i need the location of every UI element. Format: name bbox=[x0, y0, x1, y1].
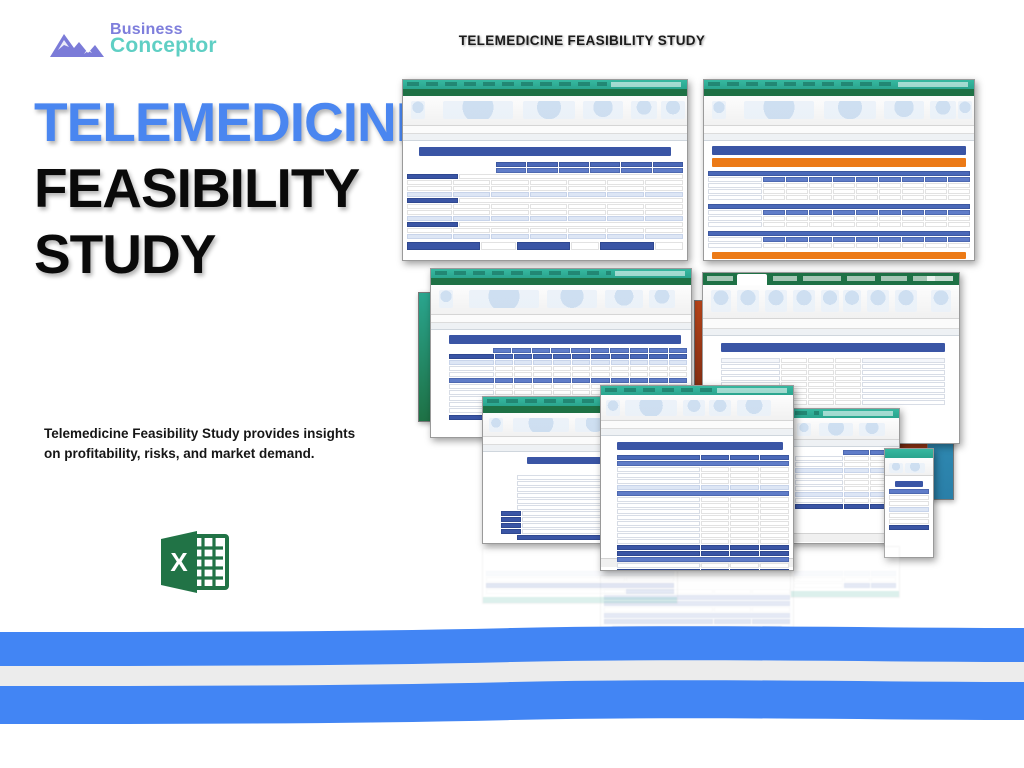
decorative-waves bbox=[0, 608, 1024, 768]
worksheet-grid[interactable] bbox=[403, 141, 687, 261]
excel-window-side-small[interactable] bbox=[884, 448, 934, 558]
worksheet-grid[interactable] bbox=[885, 476, 933, 546]
window-titlebar[interactable] bbox=[403, 80, 687, 89]
sheet-banner bbox=[721, 343, 945, 352]
window-titlebar[interactable] bbox=[704, 80, 974, 89]
column-headers bbox=[601, 429, 793, 436]
sheet-banner bbox=[419, 147, 671, 156]
ribbon[interactable] bbox=[704, 96, 974, 126]
status-bar[interactable] bbox=[791, 533, 899, 542]
ribbon[interactable] bbox=[885, 458, 933, 476]
column-headers bbox=[403, 134, 687, 141]
window-titlebar[interactable] bbox=[791, 409, 899, 418]
window-titlebar[interactable] bbox=[885, 449, 933, 458]
ribbon-tabs[interactable] bbox=[704, 89, 974, 96]
ribbon-tabs[interactable] bbox=[403, 89, 687, 96]
excel-window-monthly-revenue[interactable] bbox=[703, 79, 975, 261]
formula-bar[interactable] bbox=[703, 319, 959, 329]
formula-bar[interactable] bbox=[403, 126, 687, 134]
sheet-banner bbox=[449, 335, 681, 344]
sheet-banner bbox=[617, 442, 783, 450]
formula-bar[interactable] bbox=[601, 421, 793, 429]
window-titlebar[interactable] bbox=[431, 269, 691, 278]
worksheet-grid[interactable] bbox=[601, 436, 793, 558]
column-headers bbox=[703, 329, 959, 336]
ribbon-active-tab[interactable] bbox=[737, 274, 767, 285]
ribbon-tab-strip[interactable] bbox=[703, 273, 959, 285]
sheet-banner bbox=[712, 146, 966, 155]
formula-bar[interactable] bbox=[704, 126, 974, 134]
ribbon[interactable] bbox=[403, 96, 687, 126]
excel-window-revenue-calc[interactable] bbox=[402, 79, 688, 261]
ribbon[interactable] bbox=[431, 285, 691, 315]
column-headers bbox=[431, 323, 691, 330]
ribbon[interactable] bbox=[703, 285, 959, 319]
worksheet-grid[interactable] bbox=[791, 447, 899, 533]
window-reflection-right bbox=[790, 546, 900, 598]
screenshot-collage bbox=[0, 0, 1024, 660]
share-button[interactable] bbox=[927, 276, 953, 281]
excel-window-income-statement[interactable] bbox=[600, 385, 794, 571]
sheet-subbanner bbox=[712, 158, 966, 167]
worksheet-grid[interactable] bbox=[704, 141, 974, 261]
slide-canvas: Business Conceptor TELEMEDICINE FEASIBIL… bbox=[0, 0, 1024, 768]
formula-bar[interactable] bbox=[431, 315, 691, 323]
wave-band-bottom bbox=[0, 680, 1024, 724]
column-headers bbox=[704, 134, 974, 141]
window-titlebar[interactable] bbox=[601, 386, 793, 395]
ribbon[interactable] bbox=[601, 395, 793, 421]
ribbon[interactable] bbox=[791, 418, 899, 440]
column-headers bbox=[791, 440, 899, 447]
ribbon-tabs[interactable] bbox=[431, 278, 691, 285]
